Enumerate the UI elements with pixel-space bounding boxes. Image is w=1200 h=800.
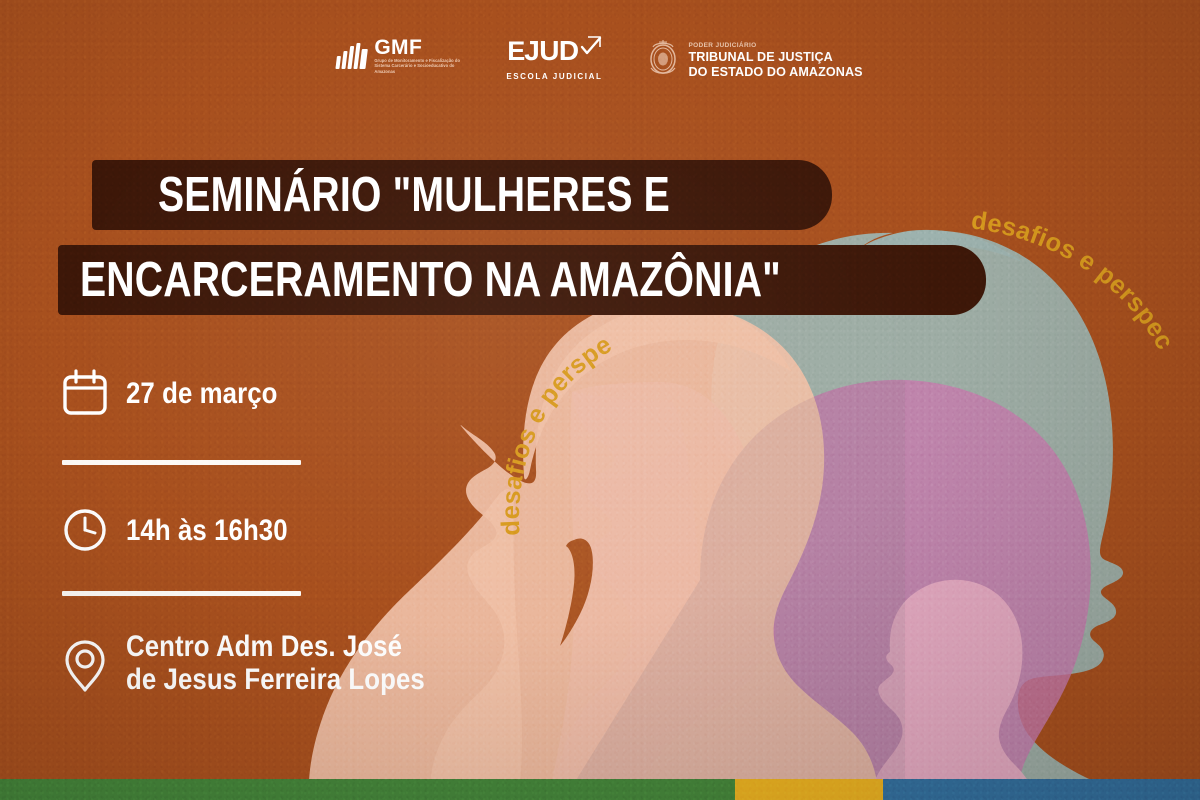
logo-tribunal-de-justica: PODER JUDICIÁRIO TRIBUNAL DE JUSTIÇA DO …: [646, 38, 862, 83]
bar-segment-blue: [883, 779, 1200, 800]
title-line-2: ENCARCERAMENTO NA AMAZÔNIA": [80, 256, 781, 305]
event-details: 27 de março 14h às 16h30: [62, 368, 422, 696]
logo-ejud: E JUD ESCOLA JUDICIAL: [506, 38, 602, 81]
coat-of-arms-icon: [646, 38, 680, 83]
spacer: [62, 555, 422, 591]
spacer: [62, 465, 422, 505]
event-poster: desafios e perspectivas desafios e persp…: [0, 0, 1200, 800]
bottom-color-bar: [0, 779, 1200, 800]
logo-row: GMF Grupo de Monitoramento e Fiscalizaçã…: [0, 38, 1200, 83]
detail-row-date: 27 de março: [62, 368, 422, 418]
bar-segment-green: [0, 779, 735, 800]
title-line-1-box: SEMINÁRIO "MULHERES E: [92, 160, 832, 230]
calendar-icon: [62, 368, 108, 418]
location-pin-icon: [62, 638, 108, 688]
spacer: [62, 418, 422, 460]
event-time: 14h às 16h30: [126, 514, 288, 547]
ejud-letter-e: E: [507, 38, 524, 64]
logo-gmf: GMF Grupo de Monitoramento e Fiscalizaçã…: [337, 38, 462, 74]
detail-row-place: Centro Adm Des. José de Jesus Ferreira L…: [62, 630, 422, 696]
gmf-bars-icon: [336, 43, 369, 69]
tj-line-2: DO ESTADO DO AMAZONAS: [688, 65, 862, 79]
event-date: 27 de março: [126, 377, 278, 410]
clock-icon: [62, 505, 108, 555]
gmf-name: GMF: [374, 38, 462, 58]
check-mark-icon: [580, 36, 602, 63]
bar-segment-yellow: [735, 779, 883, 800]
detail-row-time: 14h às 16h30: [62, 505, 422, 555]
event-place-line-2: de Jesus Ferreira Lopes: [126, 663, 425, 696]
spacer: [62, 596, 422, 630]
ejud-subtitle: ESCOLA JUDICIAL: [506, 72, 602, 81]
event-place-line-1: Centro Adm Des. José: [126, 630, 425, 663]
ejud-word: JUD: [524, 38, 578, 64]
tj-line-1: TRIBUNAL DE JUSTIÇA: [688, 50, 862, 64]
title-line-1: SEMINÁRIO "MULHERES E: [158, 171, 670, 220]
gmf-subtitle: Grupo de Monitoramento e Fiscalização do…: [374, 58, 462, 74]
tj-poder-judiciario: PODER JUDICIÁRIO: [688, 42, 862, 50]
title-line-2-box: ENCARCERAMENTO NA AMAZÔNIA": [58, 245, 986, 315]
